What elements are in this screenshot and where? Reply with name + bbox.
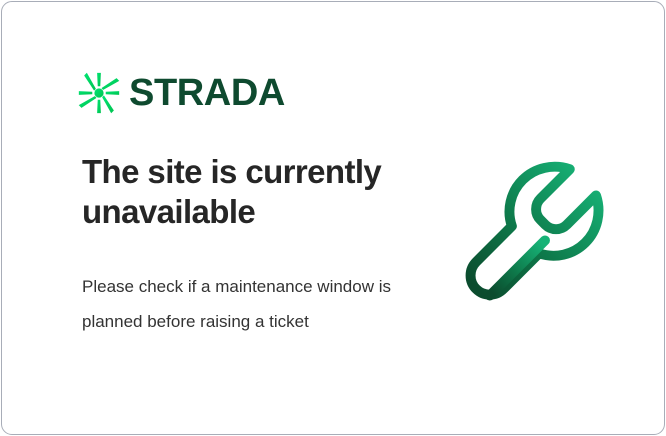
strada-asterisk-icon: [78, 72, 120, 114]
page-title: The site is currently unavailable: [82, 152, 442, 233]
page-description: Please check if a maintenance window is …: [82, 270, 392, 340]
wrench-icon: [457, 154, 617, 314]
brand-wordmark: STRADA: [129, 74, 285, 112]
brand-lockup: STRADA: [78, 72, 285, 114]
message-card: STRADA The site is currently unavailable…: [1, 1, 665, 435]
maintenance-page: STRADA The site is currently unavailable…: [0, 0, 666, 436]
